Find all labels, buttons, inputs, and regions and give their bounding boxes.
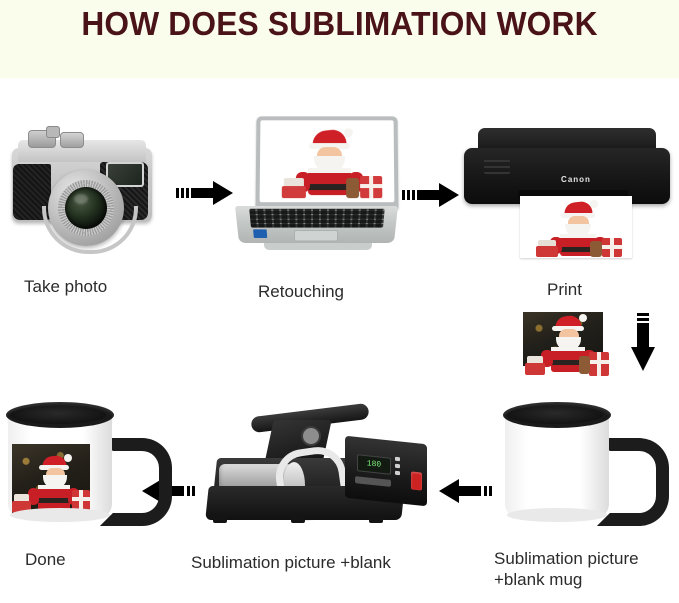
camera-lens-glint: [74, 194, 88, 204]
infographic-page: HOW DOES SUBLIMATION WORK: [0, 0, 679, 603]
laptop-base: [235, 206, 398, 243]
arrow-printer-to-picture: [628, 313, 658, 375]
santa-artwork-on-screen: [260, 120, 395, 202]
finished-mug-interior: [10, 406, 106, 424]
laptop-icon: [230, 116, 402, 256]
blank-mug-icon: [505, 402, 645, 527]
press-foot-right: [369, 516, 383, 523]
caption-print: Print: [547, 279, 582, 300]
press-power-switch[interactable]: [411, 471, 422, 490]
finished-mug-icon: [8, 402, 148, 527]
santa-artwork-on-mug: [12, 444, 90, 516]
press-foot-mid: [291, 516, 305, 523]
page-title: HOW DOES SUBLIMATION WORK: [14, 0, 666, 48]
camera-dial-right: [60, 132, 84, 148]
laptop-front-edge: [264, 243, 372, 250]
caption-sublimation-blank: Sublimation picture +blank: [191, 552, 391, 573]
camera-shutter-button: [46, 126, 60, 138]
printer-icon: Canon: [462, 128, 672, 263]
blank-mug-rim: [503, 402, 611, 428]
arrow-mug-to-press: [437, 476, 497, 506]
finished-mug-bottom: [10, 508, 110, 522]
caption-take-photo: Take photo: [24, 276, 107, 297]
printer-control-buttons[interactable]: [484, 156, 510, 174]
press-led-1: [395, 457, 400, 462]
camera-lens-hood: [42, 206, 138, 254]
blank-mug-interior: [507, 406, 603, 424]
heat-press-icon: 180: [205, 400, 435, 540]
sublimation-transfer-picture: [515, 310, 611, 384]
caption-retouching: Retouching: [258, 281, 344, 302]
finished-mug-rim: [6, 402, 114, 428]
laptop-lid: [255, 116, 398, 209]
arrow-camera-to-laptop: [176, 178, 234, 208]
santa-artwork-printed: [520, 196, 632, 258]
press-pivot-joint: [301, 426, 321, 446]
camera-icon: [8, 118, 158, 248]
press-foot-left: [213, 516, 227, 523]
caption-sublimation-blank-mug: Sublimation picture +blank mug: [494, 548, 639, 591]
laptop-keyboard[interactable]: [249, 209, 384, 228]
laptop-trackpad[interactable]: [294, 230, 338, 241]
laptop-screen: [260, 120, 395, 202]
caption-done: Done: [25, 549, 66, 570]
laptop-sticker: [253, 229, 267, 238]
press-led-3: [395, 471, 400, 476]
press-temperature-display: 180: [357, 454, 391, 475]
press-led-2: [395, 464, 400, 469]
arrow-laptop-to-printer: [402, 180, 460, 210]
blank-mug-bottom: [507, 508, 607, 522]
printer-brand-label: Canon: [548, 174, 604, 185]
printer-output-paper: [520, 196, 632, 258]
santa-artwork-transfer: [515, 310, 611, 384]
